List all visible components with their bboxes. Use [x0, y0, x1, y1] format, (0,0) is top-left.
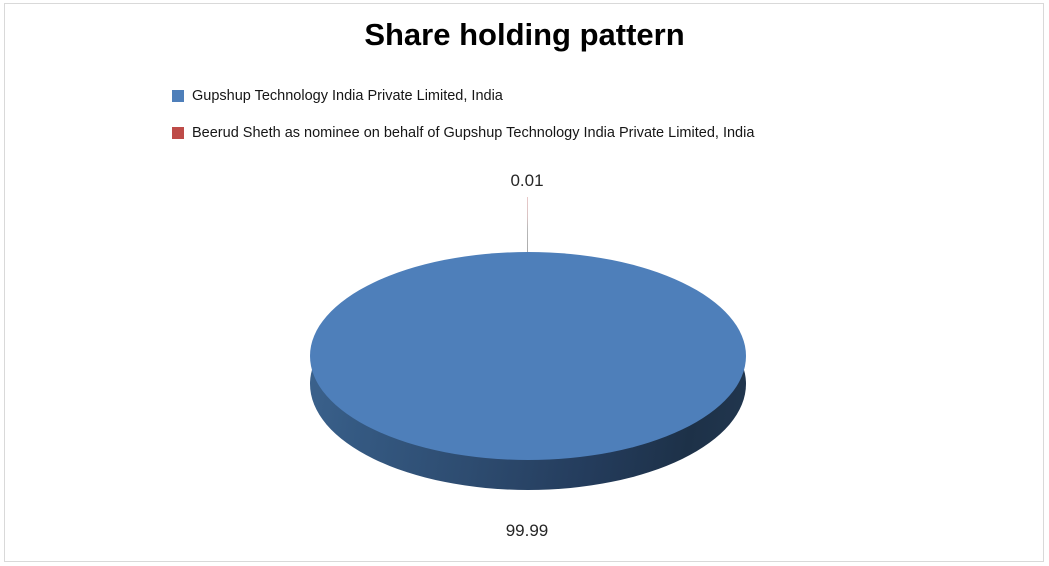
data-label-large-slice: 99.99 — [467, 521, 587, 541]
legend-swatch-icon-beerud-sheth — [172, 127, 184, 139]
legend-item-gupshup[interactable]: Gupshup Technology India Private Limited… — [172, 84, 992, 108]
chart-title: Share holding pattern — [0, 17, 1049, 53]
pie-chart-graphic[interactable] — [310, 252, 746, 492]
data-label-small-slice: 0.01 — [467, 171, 587, 191]
data-label-leader-line — [527, 197, 528, 254]
chart-legend: Gupshup Technology India Private Limited… — [172, 84, 992, 158]
legend-label-gupshup: Gupshup Technology India Private Limited… — [192, 88, 503, 104]
pie-slice-gupshup[interactable] — [310, 252, 746, 460]
legend-item-beerud-sheth[interactable]: Beerud Sheth as nominee on behalf of Gup… — [172, 121, 992, 145]
chart-container: Share holding pattern Gupshup Technology… — [0, 0, 1049, 566]
legend-label-beerud-sheth: Beerud Sheth as nominee on behalf of Gup… — [192, 125, 754, 141]
legend-swatch-icon-gupshup — [172, 90, 184, 102]
